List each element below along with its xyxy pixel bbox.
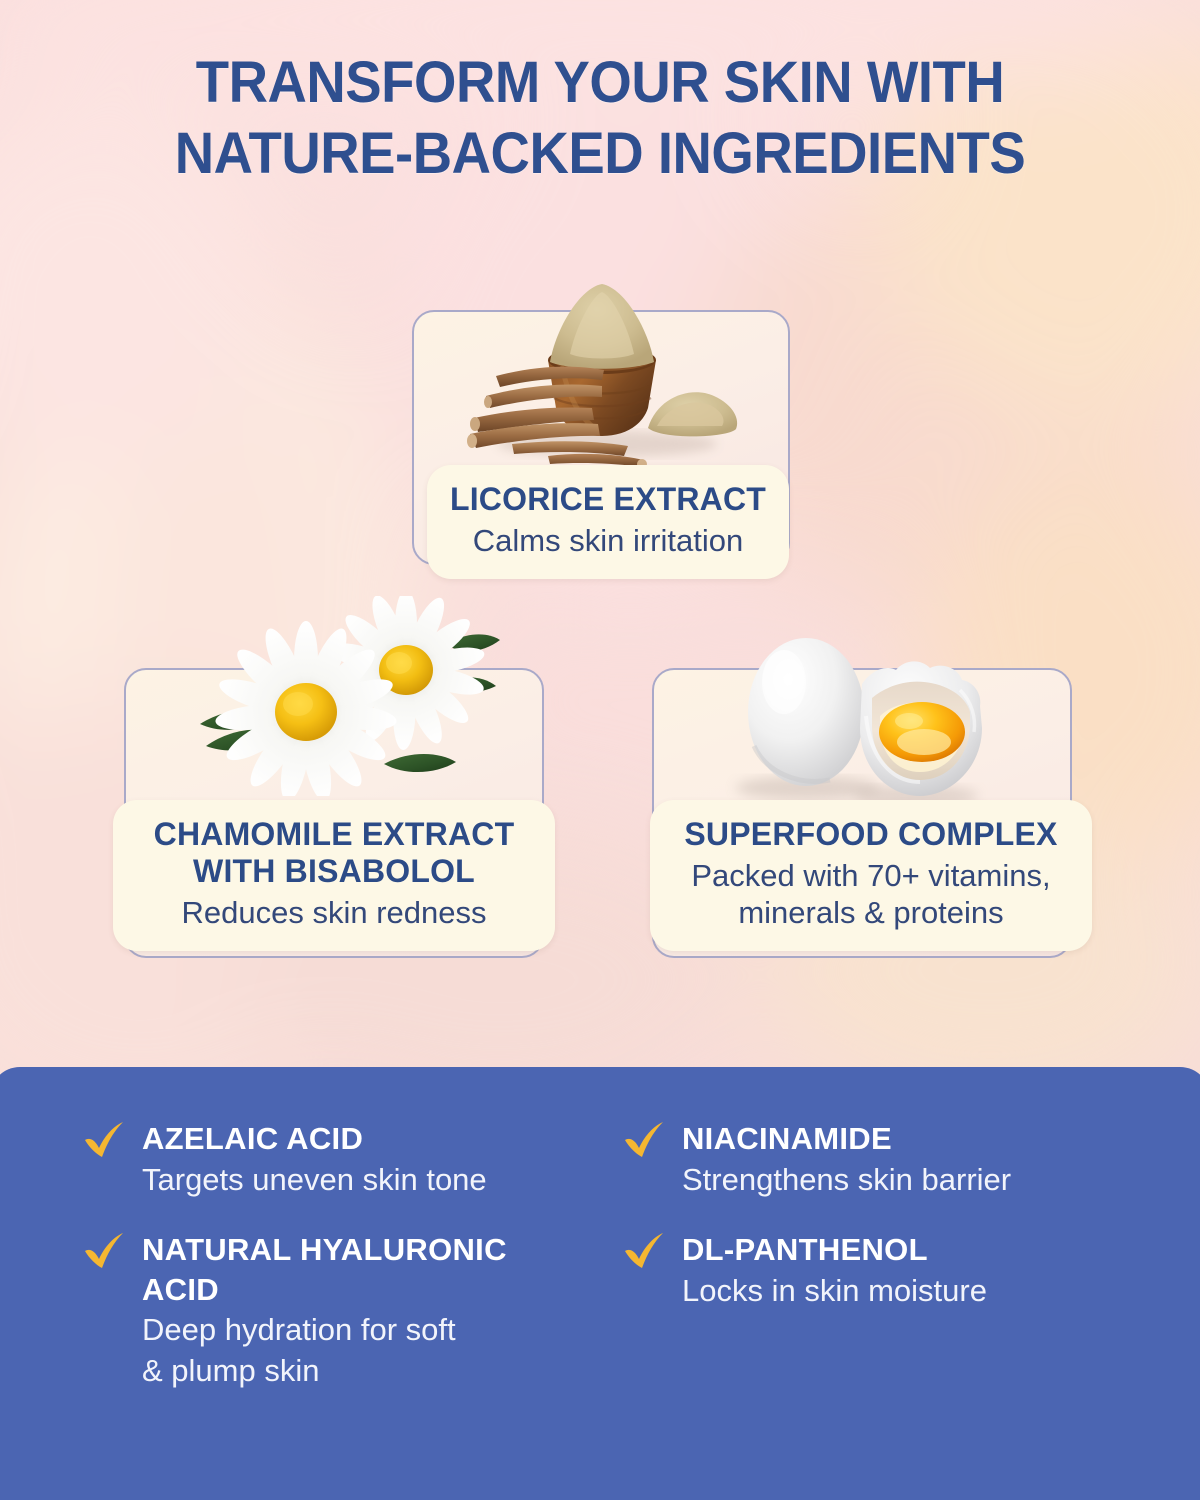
benefit-natural-hyaluronic-acid-title-line-2: ACID	[142, 1270, 590, 1310]
superfood-description-line-2: minerals & proteins	[664, 894, 1078, 931]
benefit-natural-hyaluronic-acid-description-line-2: & plump skin	[142, 1351, 590, 1391]
benefit-azelaic-acid[interactable]: AZELAIC ACID Targets uneven skin tone	[80, 1119, 590, 1200]
licorice-title: LICORICE EXTRACT	[441, 481, 775, 518]
benefit-dl-panthenol[interactable]: DL-PANTHENOL Locks in skin moisture	[620, 1230, 1130, 1391]
licorice-description: Calms skin irritation	[441, 522, 775, 559]
label-card-superfood: SUPERFOOD COMPLEX Packed with 70+ vitami…	[650, 800, 1092, 951]
benefit-niacinamide[interactable]: NIACINAMIDE Strengthens skin barrier	[620, 1119, 1130, 1200]
licorice-root-and-powder-image	[452, 268, 752, 468]
label-card-licorice: LICORICE EXTRACT Calms skin irritation	[427, 465, 789, 579]
check-icon	[82, 1121, 126, 1161]
cracked-egg-with-yolk-image	[710, 620, 1000, 810]
benefits-grid: AZELAIC ACID Targets uneven skin tone NI…	[0, 1119, 1200, 1391]
check-icon	[622, 1232, 666, 1272]
page-title: TRANSFORM YOUR SKIN WITH NATURE-BACKED I…	[36, 48, 1164, 190]
page-title-line-2: NATURE-BACKED INGREDIENTS	[36, 119, 1164, 190]
chamomile-title-line-2: WITH BISABOLOL	[127, 853, 541, 890]
label-card-chamomile: CHAMOMILE EXTRACT WITH BISABOLOL Reduces…	[113, 800, 555, 951]
check-icon	[622, 1121, 666, 1161]
benefit-niacinamide-description: Strengthens skin barrier	[682, 1160, 1130, 1200]
superfood-description-line-1: Packed with 70+ vitamins,	[664, 857, 1078, 894]
chamomile-daisy-flowers-image	[188, 596, 518, 796]
benefits-panel: AZELAIC ACID Targets uneven skin tone NI…	[0, 1067, 1200, 1500]
benefit-azelaic-acid-title: AZELAIC ACID	[142, 1119, 590, 1159]
chamomile-title-line-1: CHAMOMILE EXTRACT	[127, 816, 541, 853]
page-title-line-1: TRANSFORM YOUR SKIN WITH	[196, 50, 1005, 115]
benefit-dl-panthenol-description: Locks in skin moisture	[682, 1271, 1130, 1311]
infographic-page: TRANSFORM YOUR SKIN WITH NATURE-BACKED I…	[0, 0, 1200, 1500]
benefit-niacinamide-title: NIACINAMIDE	[682, 1119, 1130, 1159]
superfood-title: SUPERFOOD COMPLEX	[664, 816, 1078, 853]
check-icon	[82, 1232, 126, 1272]
benefit-natural-hyaluronic-acid-description-line-1: Deep hydration for soft	[142, 1310, 590, 1350]
benefit-natural-hyaluronic-acid[interactable]: NATURAL HYALURONIC ACID Deep hydration f…	[80, 1230, 590, 1391]
chamomile-description: Reduces skin redness	[127, 894, 541, 931]
benefit-dl-panthenol-title: DL-PANTHENOL	[682, 1230, 1130, 1270]
benefit-natural-hyaluronic-acid-title-line-1: NATURAL HYALURONIC	[142, 1230, 590, 1270]
benefit-azelaic-acid-description: Targets uneven skin tone	[142, 1160, 590, 1200]
